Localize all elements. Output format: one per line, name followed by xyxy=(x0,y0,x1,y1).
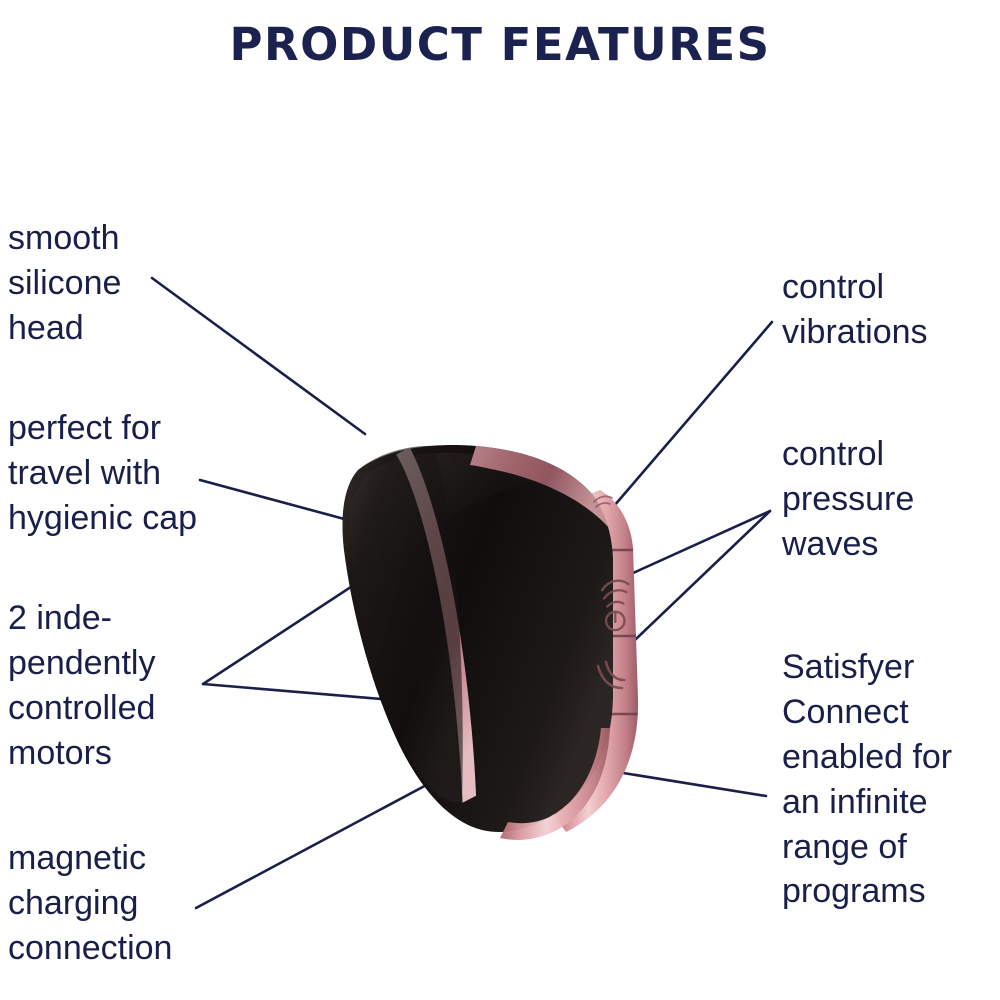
callout-satisfyer-connect: Satisfyer Connect enabled for an infinit… xyxy=(782,645,952,914)
callout-independent-motors: 2 inde- pendently controlled motors xyxy=(8,596,155,776)
callout-travel-hygienic-cap: perfect for travel with hygienic cap xyxy=(8,406,197,541)
callout-control-vibrations: control vibrations xyxy=(782,265,928,355)
product-features-infographic: PRODUCT FEATURES xyxy=(0,0,1000,1000)
callout-control-pressure-waves: control pressure waves xyxy=(782,432,914,567)
product-illustration xyxy=(300,398,680,850)
callout-smooth-silicone-head: smooth silicone head xyxy=(8,216,121,351)
callout-magnetic-charging: magnetic charging connection xyxy=(8,836,172,971)
